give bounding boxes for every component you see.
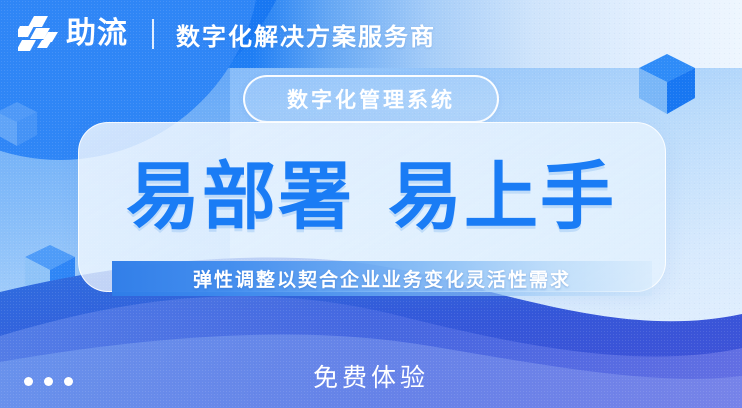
hero-subtitle-bar: 弹性调整以契合企业业务变化灵活性需求 [112, 261, 652, 296]
hero-headline: 易部署 易上手 [0, 140, 742, 240]
banner-header: 助流 数字化解决方案服务商 [0, 0, 742, 68]
header-tagline: 数字化解决方案服务商 [176, 17, 436, 52]
carousel-dot[interactable] [64, 377, 73, 386]
carousel-dot[interactable] [44, 377, 53, 386]
zhuliu-slashes-logo-icon[interactable] [18, 14, 60, 54]
free-trial-cta[interactable]: 免费体验 [0, 358, 742, 394]
headline-part-2: 易上手 [388, 137, 616, 244]
brand-name: 助流 [66, 19, 128, 49]
carousel-dot[interactable] [24, 377, 33, 386]
header-divider-icon [152, 19, 154, 49]
system-badge: 数字化管理系统 [243, 75, 499, 123]
promo-banner: 助流 数字化解决方案服务商 数字化管理系统 易部署 易上手 弹性调整以契合企业业… [0, 0, 742, 408]
carousel-dots[interactable] [24, 377, 73, 386]
headline-part-1: 易部署 [126, 137, 354, 244]
hero-subtitle-text: 弹性调整以契合企业业务变化灵活性需求 [193, 265, 571, 292]
